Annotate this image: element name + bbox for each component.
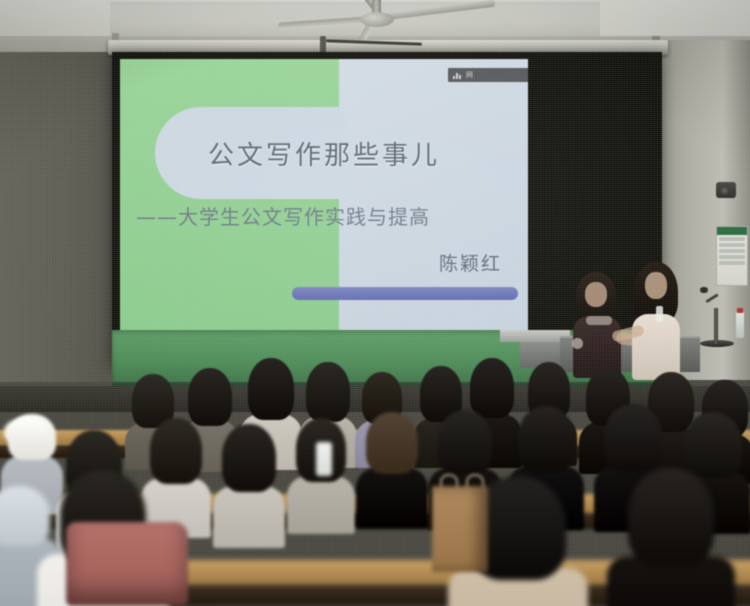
audience-hair xyxy=(222,424,276,492)
pink-tote-bag xyxy=(66,522,188,606)
presenter-collar xyxy=(586,316,612,325)
left-wall-panel xyxy=(0,52,112,382)
wall-notice-board xyxy=(716,226,748,286)
slide-accent-bar xyxy=(292,287,518,300)
kraft-paper-bag xyxy=(432,486,488,572)
notice-line xyxy=(719,237,745,241)
signal-bars-icon xyxy=(453,72,461,79)
slide-author: 陈颖红 xyxy=(120,249,502,276)
slide-subtitle: ——大学生公文写作实践与提高 xyxy=(136,201,528,230)
presentation-slide: 公文写作那些事儿 ——大学生公文写作实践与提高 陈颖红 网 xyxy=(120,59,528,349)
audience-hair xyxy=(306,362,350,422)
audience-hair xyxy=(188,368,232,426)
app-glyph: 网 xyxy=(466,72,473,79)
microphone-pole xyxy=(714,308,718,344)
wall-speaker-icon xyxy=(716,182,736,198)
notice-line xyxy=(719,261,745,265)
audience-hair xyxy=(518,406,574,472)
player-top-bar[interactable]: 网 xyxy=(448,68,528,82)
ceiling-fan-icon xyxy=(360,12,394,27)
presenter-face xyxy=(585,282,607,307)
notice-line xyxy=(719,243,745,247)
notice-line xyxy=(719,255,745,259)
bottle-cap xyxy=(737,308,743,313)
lecture-hall-screenshot: 公文写作那些事儿 ——大学生公文写作实践与提高 陈颖红 网 ▲ xyxy=(0,0,750,606)
slide-title: 公文写作那些事儿 xyxy=(120,135,528,172)
audience-hair xyxy=(628,468,714,566)
presenter-torso xyxy=(632,314,680,380)
audience-hair xyxy=(470,358,514,418)
white-cap xyxy=(4,418,48,444)
water-bottle-desk xyxy=(316,442,332,476)
audience-torso xyxy=(356,468,428,528)
microphone-stand-icon xyxy=(700,287,708,293)
audience-hair xyxy=(150,418,202,484)
water-bottle xyxy=(736,312,744,338)
audience-hair xyxy=(248,358,294,420)
audience-hair xyxy=(0,486,50,546)
audience-torso xyxy=(287,476,355,534)
presenter-face xyxy=(645,272,667,299)
audience-hair xyxy=(684,412,742,478)
notice-header xyxy=(717,227,747,235)
audience-hair xyxy=(604,404,662,472)
presenter-cuff xyxy=(572,338,583,349)
notice-line xyxy=(719,249,745,253)
audience-hair xyxy=(438,410,492,474)
presenter-handheld xyxy=(656,306,663,322)
audience-hair xyxy=(366,412,418,474)
audience-torso xyxy=(213,486,285,548)
